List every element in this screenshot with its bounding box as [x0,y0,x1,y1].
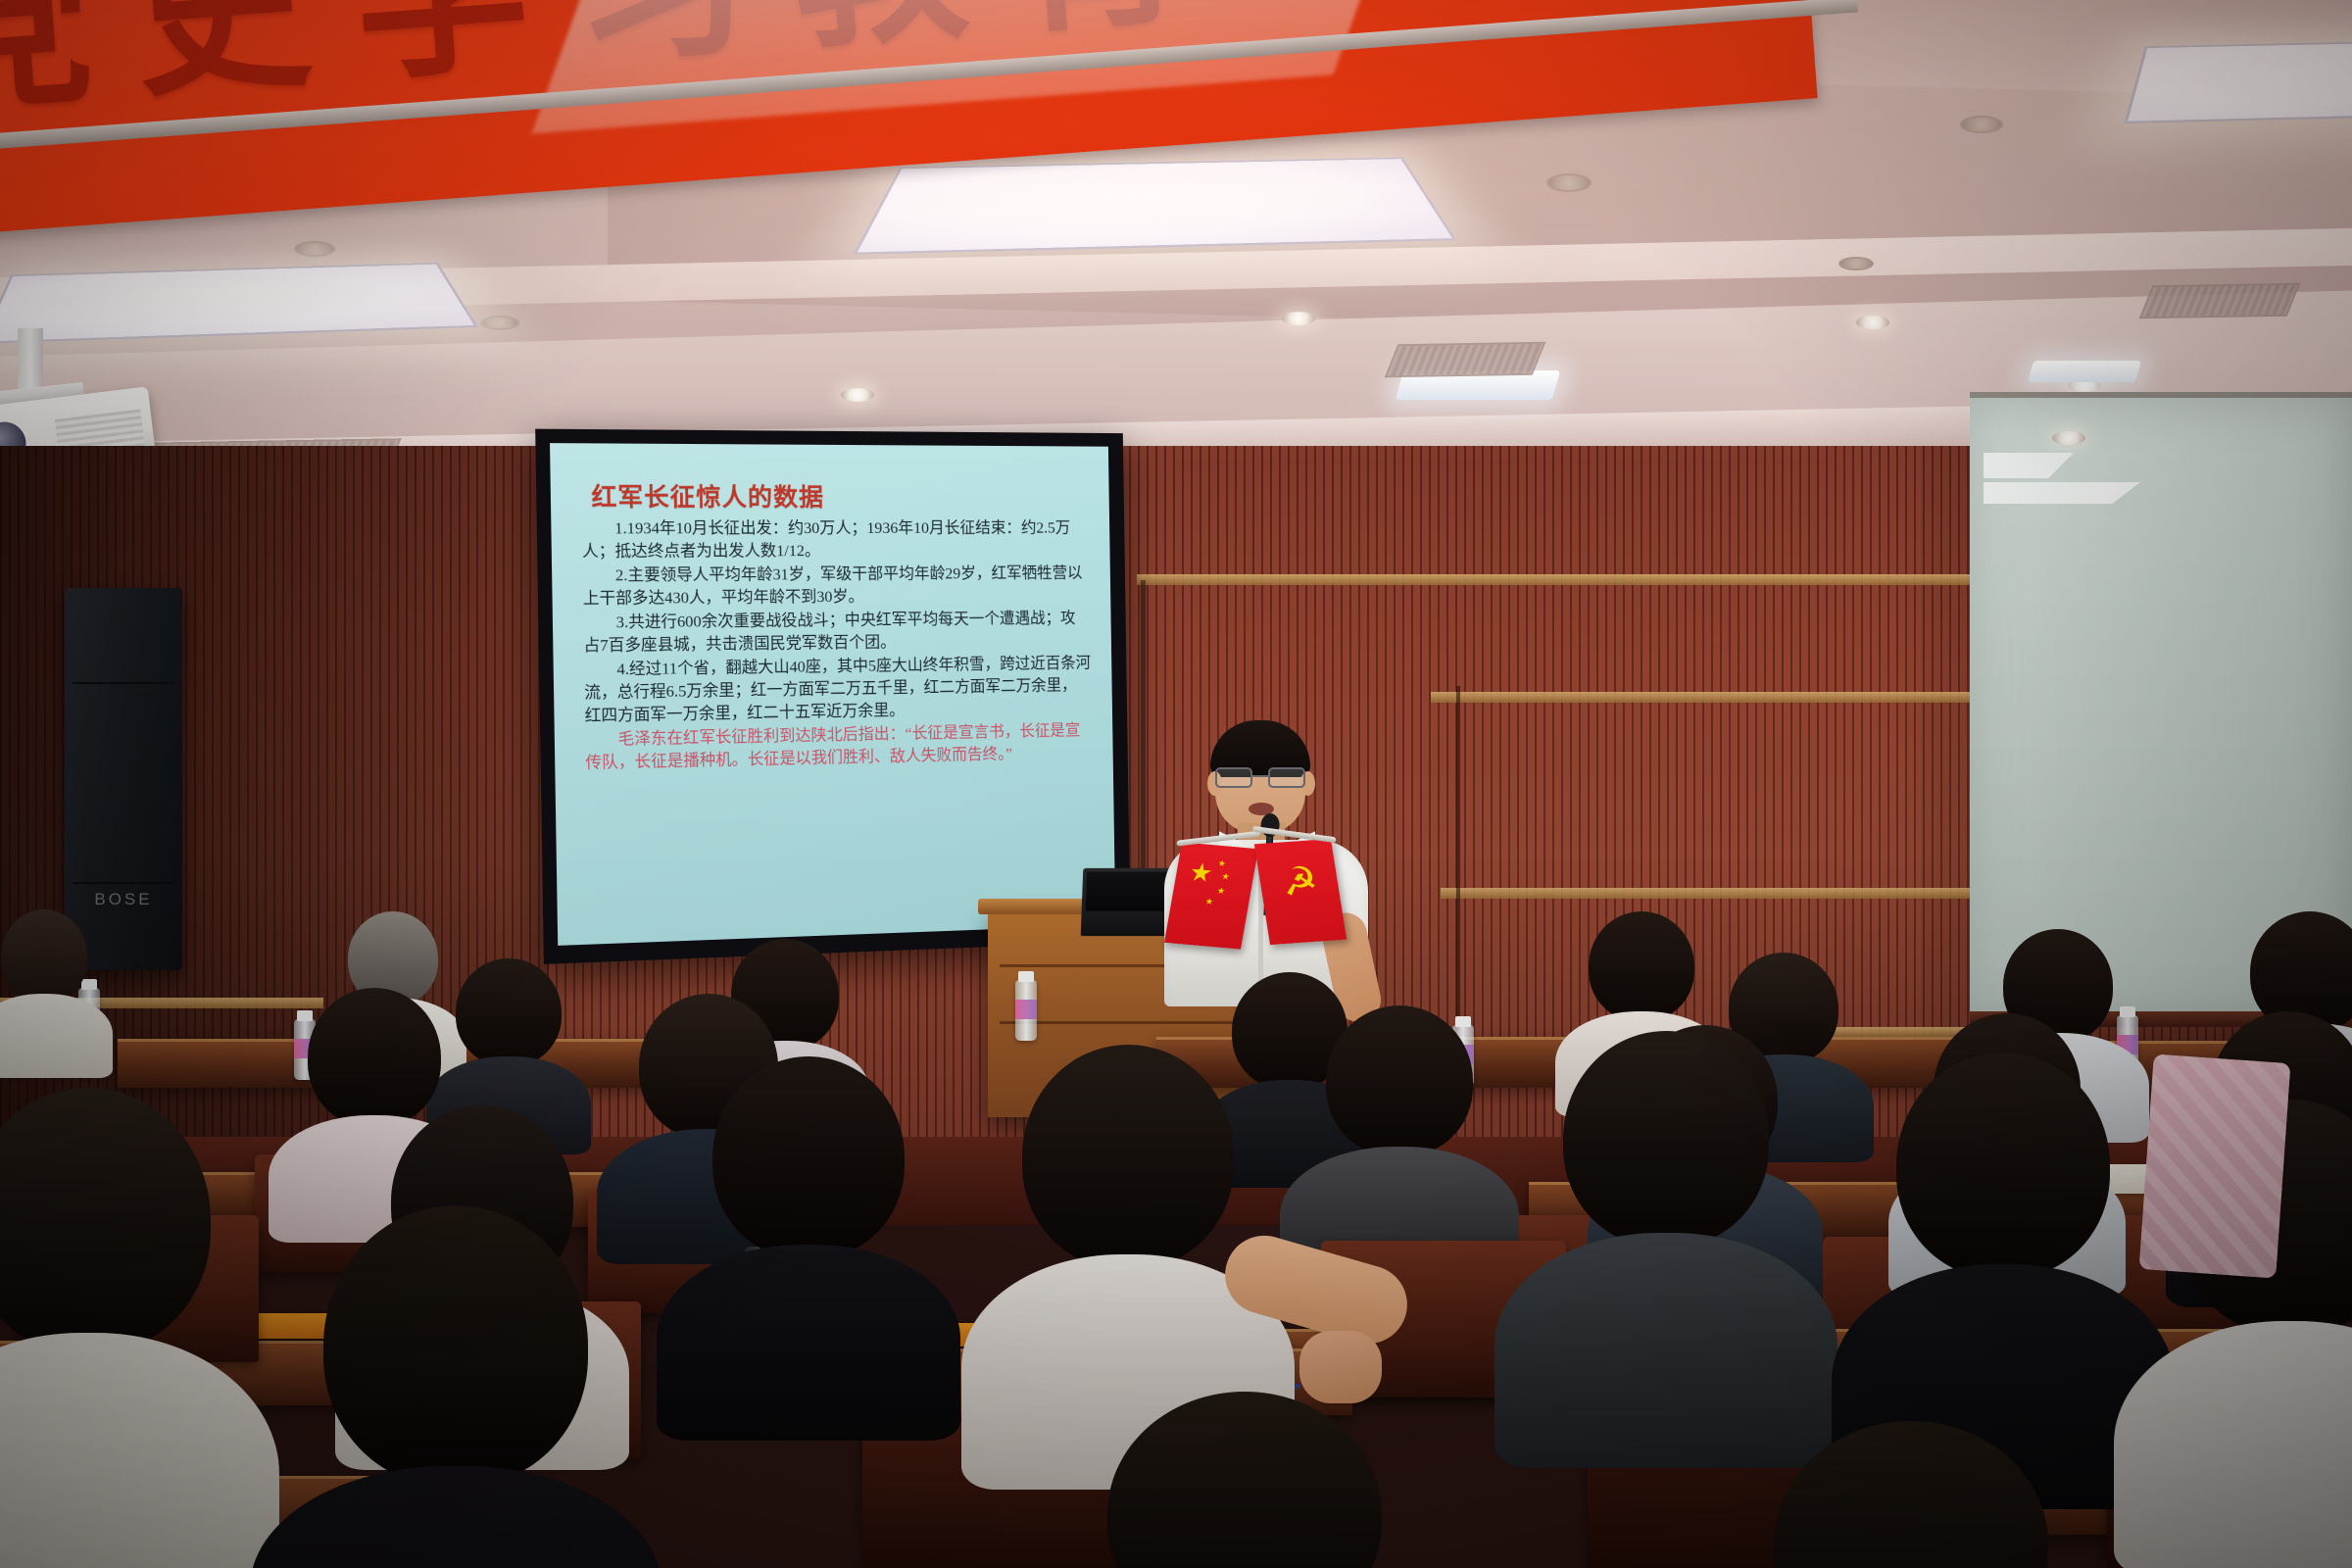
audience-member [1529,1031,1803,1423]
downlight-icon [1546,173,1592,192]
ceiling-air-vent [2139,283,2301,319]
audience-member-foreground [294,1205,617,1568]
lens-left [1215,767,1252,788]
whiteboard-reflection [1984,482,2140,504]
person-head [0,1088,211,1352]
slide-paragraph-3: 3.共进行600余次重要战役战斗；中央红军平均每天一个遭遇战；攻占7百多座县城，… [583,608,1091,658]
audience-member-foreground [0,1088,235,1568]
person-head [1022,1045,1234,1268]
projection-screen-frame: 红军长征惊人的数据 1.1934年10月长征出发：约30万人；1936年10月长… [535,429,1130,964]
audience-member [1301,1005,1497,1250]
ceiling-light-panel [853,158,1456,255]
downlight-icon [841,388,874,402]
person-head [1563,1031,1769,1247]
ceiling-light-panel [2124,40,2352,123]
slide-paragraph-4: 4.经过11个省，翻越大山40座，其中5座大山终年积雪，跨过近百条河流，总行程6… [584,653,1093,728]
slide-paragraph-1: 1.1934年10月长征出发：约30万人；1936年10月长征结束：约2.5万人… [581,517,1089,563]
glasses-bridge [1252,775,1268,777]
person-body [0,994,113,1078]
downlight-icon [294,241,335,257]
wall-trim [1441,888,1980,899]
downlight-icon [480,316,519,330]
lecture-hall-photo: 党史学习教育 BOSE 红军长征惊人的数据 1.1934年10月长征出发：约30… [0,0,2352,1568]
projector-mount [18,328,43,395]
projection-screen: 红军长征惊人的数据 1.1934年10月长征出发：约30万人；1936年10月长… [550,443,1115,946]
audience-clothing [2138,1053,2290,1278]
person-head [1326,1005,1473,1156]
audience-member-foreground [1744,1421,2078,1568]
ceiling-air-vent [1385,342,1546,378]
audience-member [686,1056,931,1399]
flag-star-icon: ★ [1217,859,1227,869]
hammer-sickle-icon: ☭ [1279,861,1320,903]
person-body [657,1245,960,1441]
person-body [2114,1321,2352,1568]
person-head [1896,1053,2110,1278]
eyeglasses-icon [1213,767,1307,789]
wall-trim [1431,692,1980,703]
downlight-icon [2052,431,2085,445]
wall-trim [1137,574,1980,585]
cpc-party-flag: ☭ [1254,839,1347,945]
audience-member [1866,1053,2140,1464]
whiteboard-reflection [1984,453,2074,478]
speaker-seam [73,882,174,884]
person-body [250,1466,661,1568]
flag-star-icon: ★ [1221,872,1231,882]
flag-star-icon: ★ [1188,858,1215,886]
bottle-cap [1018,971,1034,982]
downlight-icon [1960,116,2003,133]
downlight-icon [1282,312,1315,325]
audience-member-foreground [1078,1392,1411,1568]
person-head [1774,1421,2048,1568]
person-head [712,1056,905,1258]
audience-member [0,909,98,1056]
person-head [456,958,562,1066]
downlight-icon [1838,257,1874,270]
speaker-seam [73,682,174,684]
wall-seam [1456,686,1460,1031]
flag-star-icon: ★ [1204,898,1214,907]
person-head [1107,1392,1382,1568]
person-head [1589,911,1694,1021]
person-head [323,1205,588,1486]
flag-star-icon: ★ [1216,887,1226,897]
slide-quote-paragraph: 毛泽东在红军长征胜利到达陕北后指出：“长征是宣言书，长征是宣传队，长征是播种机。… [585,719,1093,775]
ceiling-light-strip [2028,361,2141,382]
audience-member-foreground [996,1045,1260,1437]
slide-title: 红军长征惊人的数据 [591,477,1089,514]
person-head [1,909,87,1004]
bottle-label [1015,1000,1037,1019]
water-bottle[interactable] [1015,980,1037,1041]
speaker-brand-label: BOSE [65,890,182,909]
slide-paragraph-2: 2.主要领导人平均年龄31岁，军级干部平均年龄29岁，红军牺牲营以上干部多达43… [582,563,1090,611]
lens-right [1268,767,1305,788]
downlight-icon [1856,316,1889,329]
